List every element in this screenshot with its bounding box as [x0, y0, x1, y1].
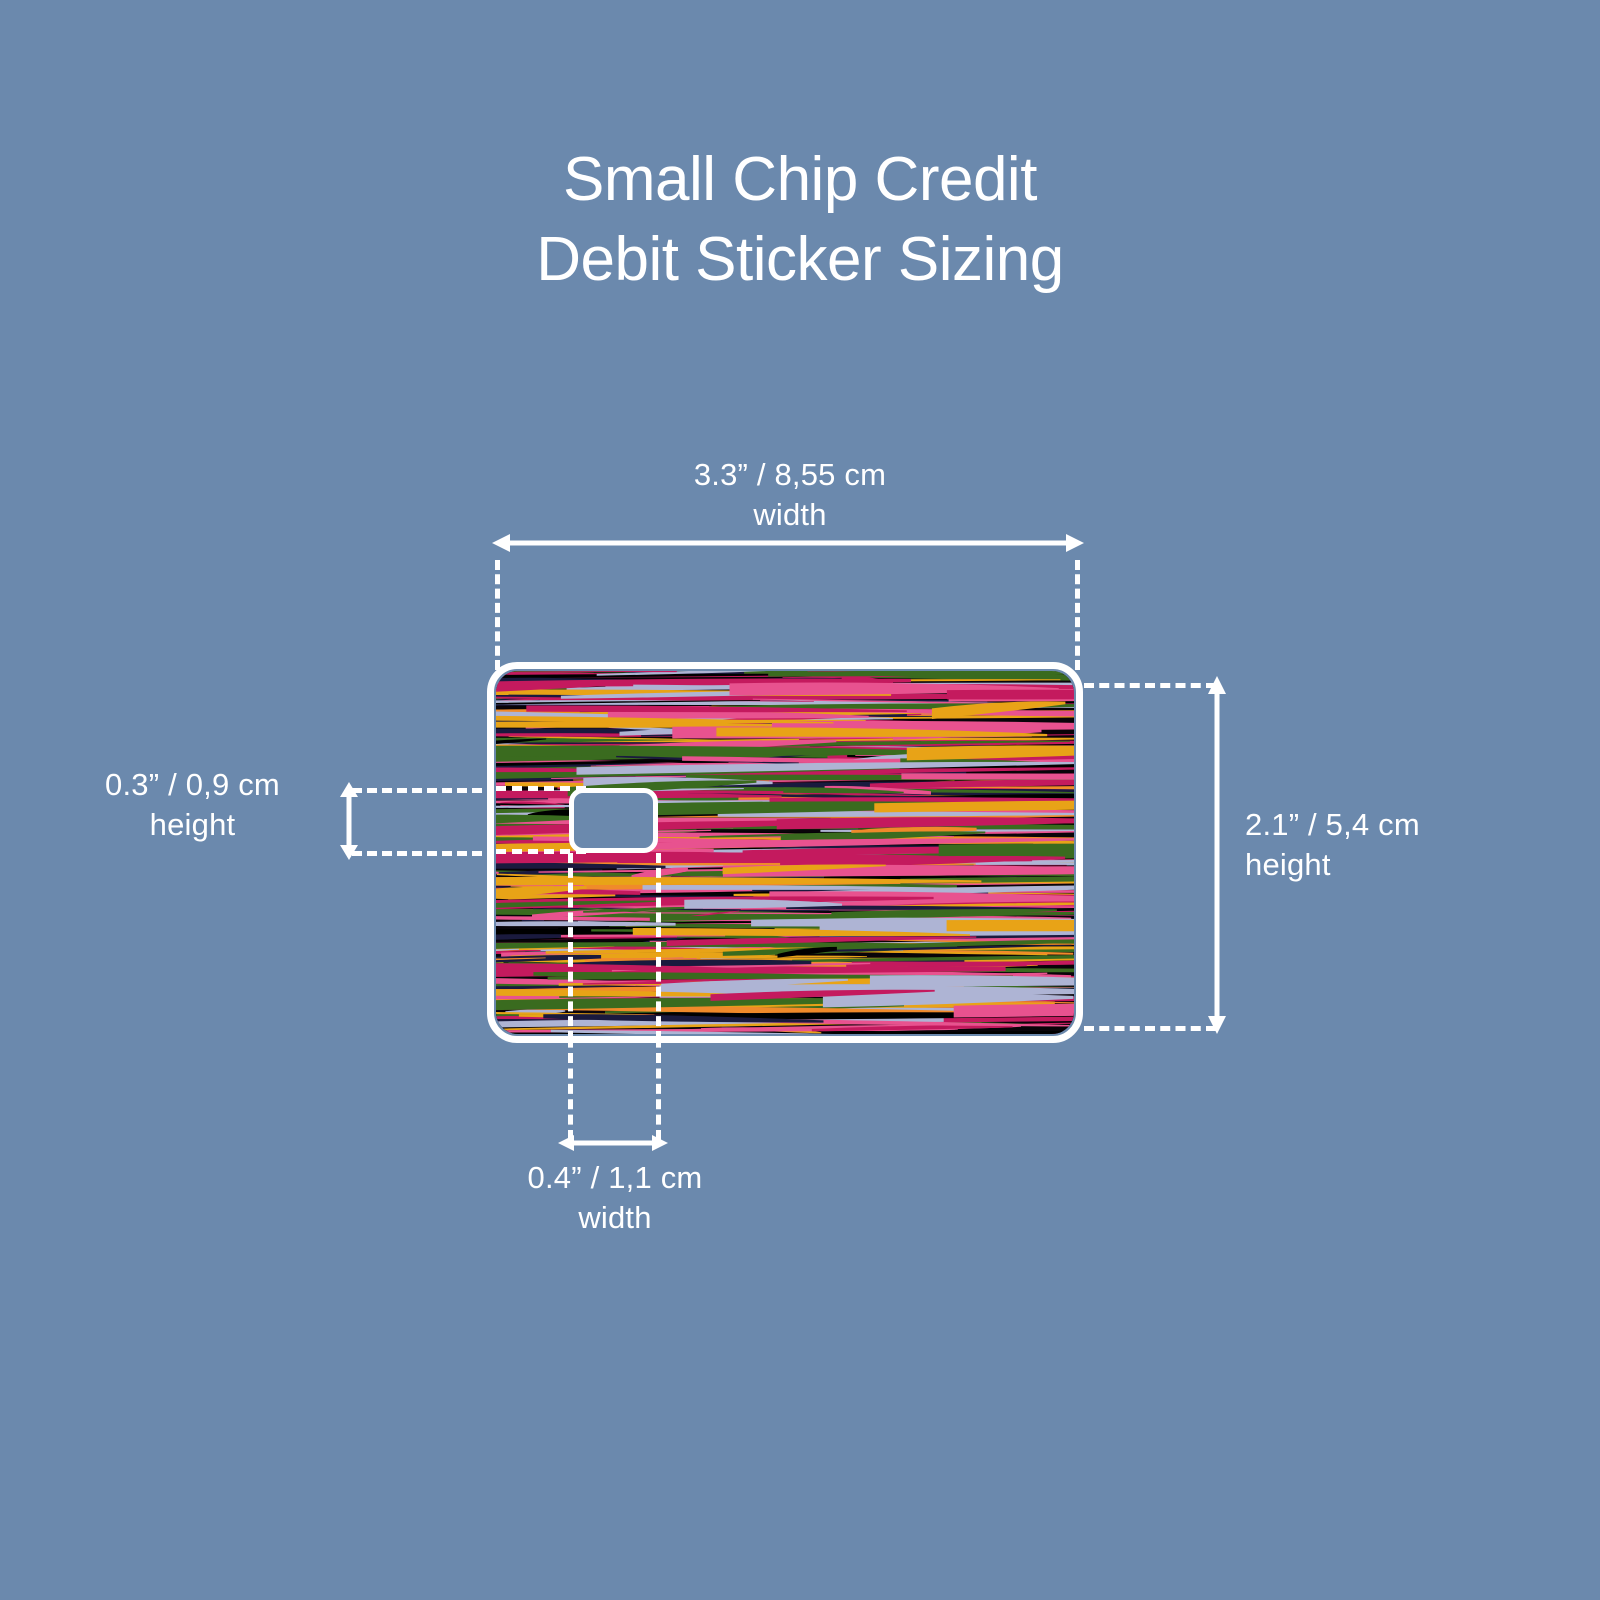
card-width-label: 3.3” / 8,55 cm width	[565, 455, 1015, 535]
page-title: Small Chip Credit Debit Sticker Sizing	[0, 140, 1600, 300]
chip-height-arrow	[334, 782, 364, 860]
card-width-arrow	[492, 528, 1084, 558]
guide-line-card-right	[1075, 560, 1080, 670]
card-height-arrow	[1202, 676, 1232, 1034]
chip-cutout	[569, 788, 658, 853]
guide-line-card-top	[1084, 683, 1216, 688]
chip-width-label: 0.4” / 1,1 cm width	[420, 1158, 810, 1238]
chip-height-label: 0.3” / 0,9 cm height	[60, 765, 325, 845]
card-height-label: 2.1” / 5,4 cm height	[1245, 805, 1575, 885]
sizing-diagram: Small Chip Credit Debit Sticker Sizing 3…	[0, 0, 1600, 1600]
guide-line-card-bottom	[1084, 1026, 1216, 1031]
chip-width-arrow	[558, 1128, 668, 1158]
guide-line-card-left	[495, 560, 500, 670]
